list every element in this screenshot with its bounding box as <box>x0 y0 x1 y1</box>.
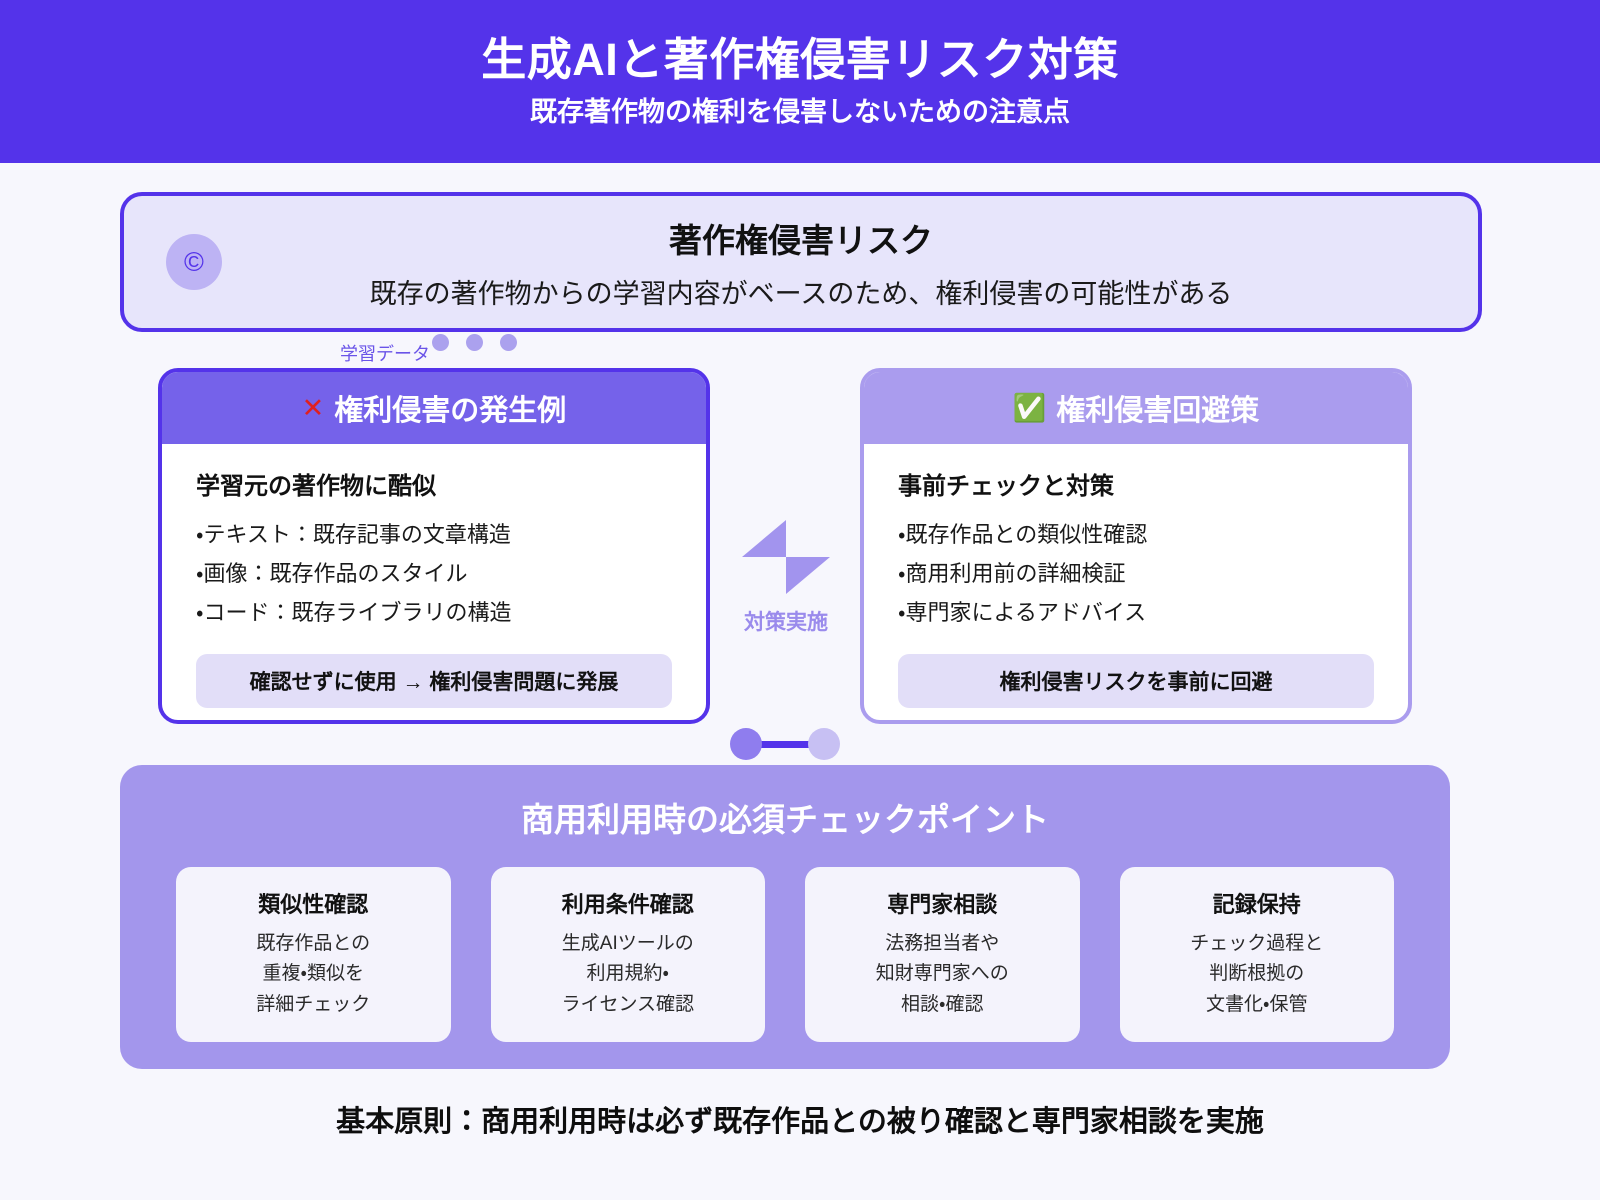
checkpoint-title: 類似性確認 <box>188 887 439 919</box>
infographic-page: 生成AIと著作権侵害リスク対策 既存著作物の権利を侵害しないための注意点 © 著… <box>0 0 1600 1200</box>
flow-dots <box>432 334 532 354</box>
copyright-glyph: © <box>184 249 204 276</box>
checkpoint-description: 法務担当者や 知財専門家への 相談・確認 <box>817 929 1068 1020</box>
lightning-bolt-icon <box>742 520 830 594</box>
list-item: ・コード：既存ライブラリの構造 <box>196 593 672 632</box>
training-data-label: 学習データ <box>340 340 430 366</box>
bolt-upper-triangle <box>742 520 786 557</box>
transition-label: 対策実施 <box>711 606 861 636</box>
checkpoint-title: 利用条件確認 <box>503 887 754 919</box>
list-item: ・既存作品との類似性確認 <box>898 515 1374 554</box>
checkpoint-title: 専門家相談 <box>817 887 1068 919</box>
list-item: ・商用利用前の詳細検証 <box>898 554 1374 593</box>
card-avoidance-body: 事前チェックと対策 ・既存作品との類似性確認 ・商用利用前の詳細検証 ・専門家に… <box>864 444 1408 708</box>
copyright-icon: © <box>166 234 222 290</box>
list-item: ・専門家によるアドバイス <box>898 593 1374 632</box>
checkpoints-list: 類似性確認 既存作品との 重複・類似を 詳細チェック 利用条件確認 生成AIツー… <box>176 867 1394 1042</box>
checkpoint-card-expert: 専門家相談 法務担当者や 知財専門家への 相談・確認 <box>805 867 1080 1042</box>
checkpoint-title: 記録保持 <box>1132 887 1383 919</box>
card-infringement-header-label: 権利侵害の発生例 <box>334 387 566 429</box>
checkpoint-description: 既存作品との 重複・類似を 詳細チェック <box>188 929 439 1020</box>
checkpoint-description: 生成AIツールの 利用規約・ ライセンス確認 <box>503 929 754 1020</box>
connector-dot-right <box>808 728 840 760</box>
card-infringement-header: ✕ 権利侵害の発生例 <box>162 372 706 444</box>
flow-dot-2 <box>466 334 483 351</box>
card-avoidance-outcome-pill: 権利侵害リスクを事前に回避 <box>898 654 1374 708</box>
checkpoint-card-terms: 利用条件確認 生成AIツールの 利用規約・ ライセンス確認 <box>491 867 766 1042</box>
page-header: 生成AIと著作権侵害リスク対策 既存著作物の権利を侵害しないための注意点 <box>0 0 1600 163</box>
page-subtitle: 既存著作物の権利を侵害しないための注意点 <box>530 98 1070 128</box>
cross-mark-icon: ✕ <box>302 395 325 422</box>
risk-banner-description: 既存の著作物からの学習内容がベースのため、権利侵害の可能性がある <box>214 272 1388 311</box>
list-item: ・テキスト：既存記事の文章構造 <box>196 515 672 554</box>
risk-banner: © 著作権侵害リスク 既存の著作物からの学習内容がベースのため、権利侵害の可能性… <box>120 192 1482 332</box>
flow-dot-1 <box>432 334 449 351</box>
checkpoint-card-records: 記録保持 チェック過程と 判断根拠の 文書化・保管 <box>1120 867 1395 1042</box>
risk-banner-text: 著作権侵害リスク 既存の著作物からの学習内容がベースのため、権利侵害の可能性があ… <box>124 214 1478 311</box>
card-avoidance-header: ✅ 権利侵害回避策 <box>864 372 1408 444</box>
flow-dot-3 <box>500 334 517 351</box>
card-infringement-outcome-pill: 確認せずに使用 → 権利侵害問題に発展 <box>196 654 672 708</box>
transition-indicator: 対策実施 <box>711 520 861 636</box>
connector-line <box>756 741 816 748</box>
checkpoints-panel-title: 商用利用時の必須チェックポイント <box>176 793 1394 841</box>
risk-banner-title: 著作権侵害リスク <box>214 214 1388 262</box>
card-infringement-examples: ✕ 権利侵害の発生例 学習元の著作物に酷似 ・テキスト：既存記事の文章構造 ・画… <box>158 368 710 724</box>
card-infringement-body-title: 学習元の著作物に酷似 <box>196 466 672 501</box>
list-item: ・画像：既存作品のスタイル <box>196 554 672 593</box>
checkpoint-card-similarity: 類似性確認 既存作品との 重複・類似を 詳細チェック <box>176 867 451 1042</box>
panel-connector <box>730 728 840 760</box>
checkpoint-description: チェック過程と 判断根拠の 文書化・保管 <box>1132 929 1383 1020</box>
connector-dot-left <box>730 728 762 760</box>
footer-principle: 基本原則：商用利用時は必ず既存作品との被り確認と専門家相談を実施 <box>0 1098 1600 1140</box>
card-infringement-body: 学習元の著作物に酷似 ・テキスト：既存記事の文章構造 ・画像：既存作品のスタイル… <box>162 444 706 708</box>
card-avoidance-header-label: 権利侵害回避策 <box>1056 387 1259 429</box>
card-avoidance-measures: ✅ 権利侵害回避策 事前チェックと対策 ・既存作品との類似性確認 ・商用利用前の… <box>860 368 1412 724</box>
page-title: 生成AIと著作権侵害リスク対策 <box>481 35 1119 85</box>
checkpoints-panel: 商用利用時の必須チェックポイント 類似性確認 既存作品との 重複・類似を 詳細チ… <box>120 765 1450 1069</box>
bolt-lower-triangle <box>786 557 830 594</box>
card-avoidance-body-title: 事前チェックと対策 <box>898 466 1374 501</box>
check-mark-icon: ✅ <box>1013 395 1047 422</box>
